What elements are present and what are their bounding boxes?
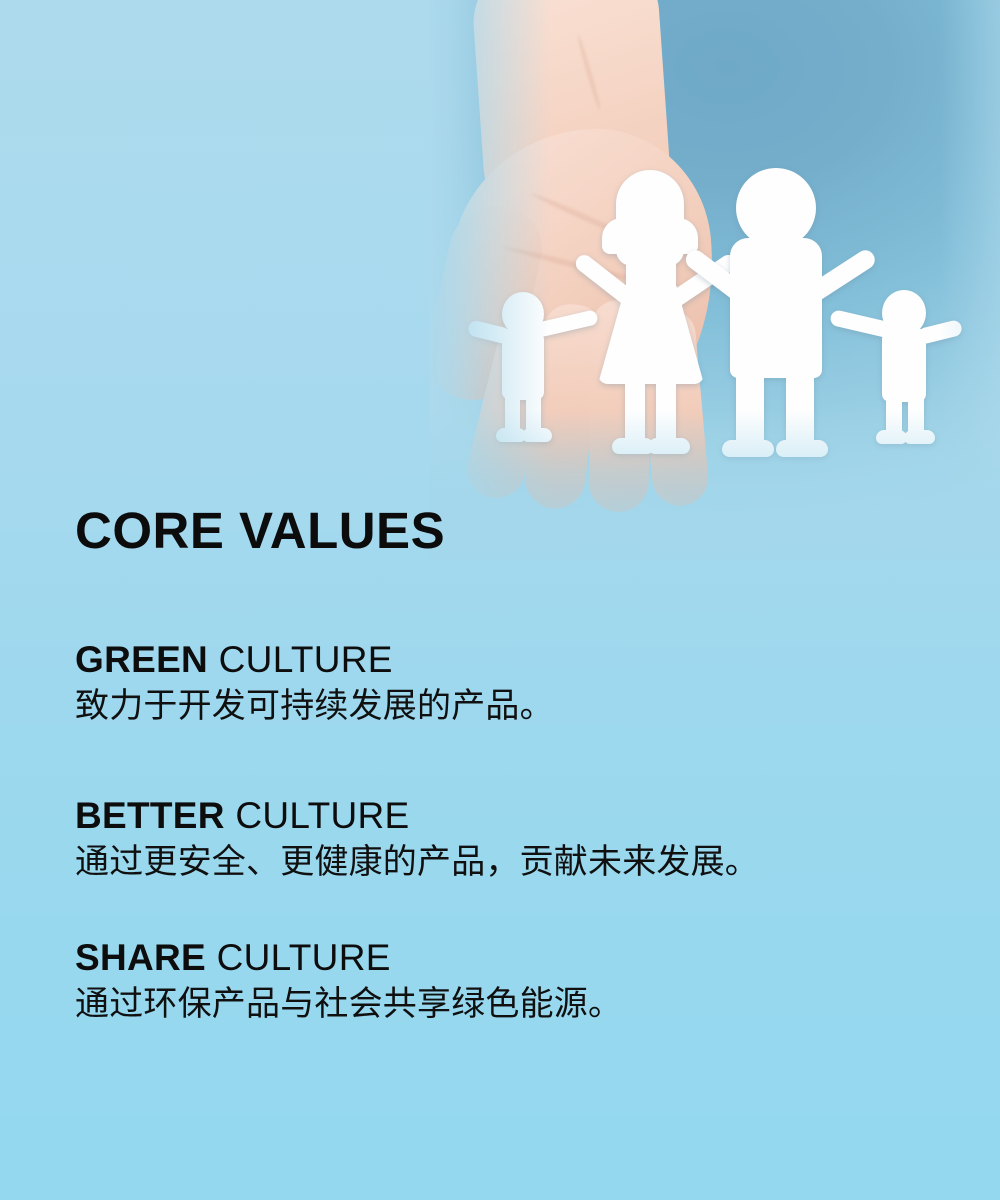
value-keyword-better: BETTER — [75, 795, 225, 836]
value-suffix-share: CULTURE — [206, 937, 391, 978]
value-suffix-better: CULTURE — [225, 795, 410, 836]
value-keyword-green: GREEN — [75, 639, 208, 680]
value-description-share: 通过环保产品与社会共享绿色能源。 — [75, 984, 955, 1024]
value-description-green: 致力于开发可持续发展的产品。 — [75, 686, 955, 726]
value-heading-share: SHARE CULTURE — [75, 938, 955, 978]
value-heading-better: BETTER CULTURE — [75, 796, 955, 836]
value-block-green: GREEN CULTURE 致力于开发可持续发展的产品。 — [75, 640, 955, 726]
page-title: CORE VALUES — [75, 505, 445, 556]
value-heading-green: GREEN CULTURE — [75, 640, 955, 680]
value-block-better: BETTER CULTURE 通过更安全、更健康的产品，贡献未来发展。 — [75, 796, 955, 882]
hero-photo — [430, 0, 1000, 560]
value-block-share: SHARE CULTURE 通过环保产品与社会共享绿色能源。 — [75, 938, 955, 1024]
hero-bottom-fade — [430, 410, 1000, 560]
value-keyword-share: SHARE — [75, 937, 206, 978]
value-suffix-green: CULTURE — [208, 639, 393, 680]
value-description-better: 通过更安全、更健康的产品，贡献未来发展。 — [75, 842, 955, 882]
